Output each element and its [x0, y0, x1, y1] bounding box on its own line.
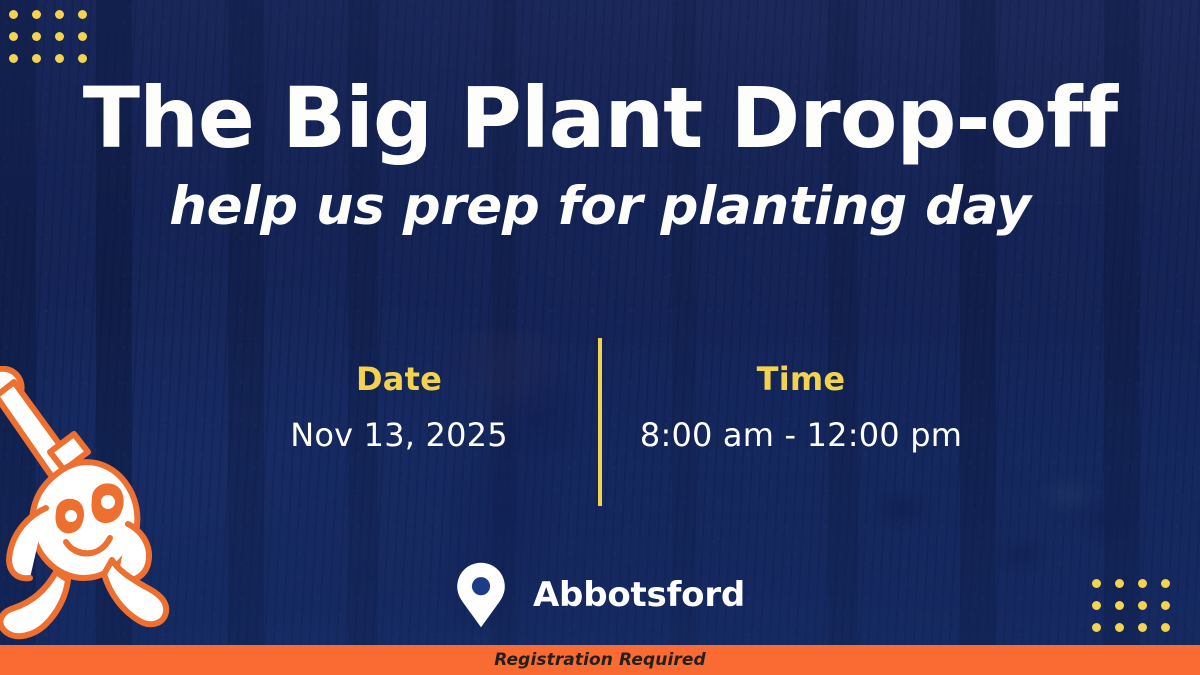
map-pin-icon [455, 562, 507, 628]
detail-value-date: Nov 13, 2025 [234, 416, 564, 454]
poster-title: The Big Plant Drop-off [0, 76, 1200, 162]
dot [78, 10, 87, 19]
event-location: Abbotsford [0, 562, 1200, 628]
detail-label-time: Time [636, 360, 966, 398]
detail-label-date: Date [234, 360, 564, 398]
dot [55, 32, 64, 41]
dot [9, 54, 18, 63]
vertical-divider [598, 338, 602, 506]
dot [32, 10, 41, 19]
registration-text: Registration Required [494, 650, 706, 670]
dot [32, 32, 41, 41]
headline-block: The Big Plant Drop-off help us prep for … [0, 76, 1200, 237]
dot [78, 32, 87, 41]
dot [9, 32, 18, 41]
event-poster: The Big Plant Drop-off help us prep for … [0, 0, 1200, 675]
dot [9, 10, 18, 19]
detail-date: Date Nov 13, 2025 [234, 360, 564, 454]
detail-time: Time 8:00 am - 12:00 pm [636, 360, 966, 454]
dot [32, 54, 41, 63]
dot [55, 54, 64, 63]
event-details: Date Nov 13, 2025 Time 8:00 am - 12:00 p… [0, 360, 1200, 506]
location-name: Abbotsford [533, 575, 745, 615]
registration-banner: Registration Required [0, 645, 1200, 675]
detail-value-time: 8:00 am - 12:00 pm [636, 416, 966, 454]
dot [55, 10, 64, 19]
dot [78, 54, 87, 63]
shovel-mascot-icon [0, 366, 178, 656]
poster-subtitle: help us prep for planting day [0, 176, 1200, 237]
dot-grid-top-left [9, 10, 87, 63]
